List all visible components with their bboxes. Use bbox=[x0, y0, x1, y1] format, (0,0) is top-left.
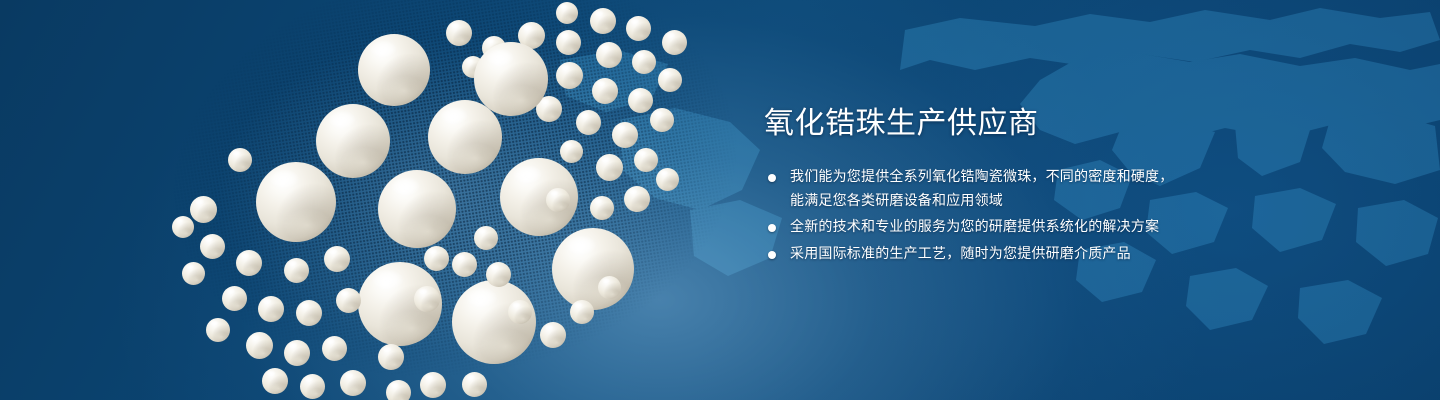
list-item: 我们能为您提供全系列氧化锆陶瓷微珠，不同的密度和硬度， 能满足您各类研磨设备和应… bbox=[764, 165, 1324, 212]
bullet-dot-icon bbox=[768, 251, 776, 259]
banner-copy: 氧化锆珠生产供应商 我们能为您提供全系列氧化锆陶瓷微珠，不同的密度和硬度， 能满… bbox=[764, 104, 1324, 268]
page-title: 氧化锆珠生产供应商 bbox=[764, 104, 1324, 144]
feature-list: 我们能为您提供全系列氧化锆陶瓷微珠，不同的密度和硬度， 能满足您各类研磨设备和应… bbox=[764, 165, 1324, 265]
feature-line: 采用国际标准的生产工艺，随时为您提供研磨介质产品 bbox=[790, 242, 1324, 266]
feature-line: 全新的技术和专业的服务为您的研磨提供系统化的解决方案 bbox=[790, 215, 1324, 239]
hero-banner: 氧化锆珠生产供应商 我们能为您提供全系列氧化锆陶瓷微珠，不同的密度和硬度， 能满… bbox=[0, 0, 1440, 400]
list-item: 采用国际标准的生产工艺，随时为您提供研磨介质产品 bbox=[764, 242, 1324, 266]
bullet-dot-icon bbox=[768, 174, 776, 182]
bullet-dot-icon bbox=[768, 224, 776, 232]
list-item: 全新的技术和专业的服务为您的研磨提供系统化的解决方案 bbox=[764, 215, 1324, 239]
feature-line: 我们能为您提供全系列氧化锆陶瓷微珠，不同的密度和硬度， bbox=[790, 165, 1324, 189]
zirconia-beads-image bbox=[0, 0, 760, 400]
feature-line: 能满足您各类研磨设备和应用领域 bbox=[790, 189, 1324, 213]
